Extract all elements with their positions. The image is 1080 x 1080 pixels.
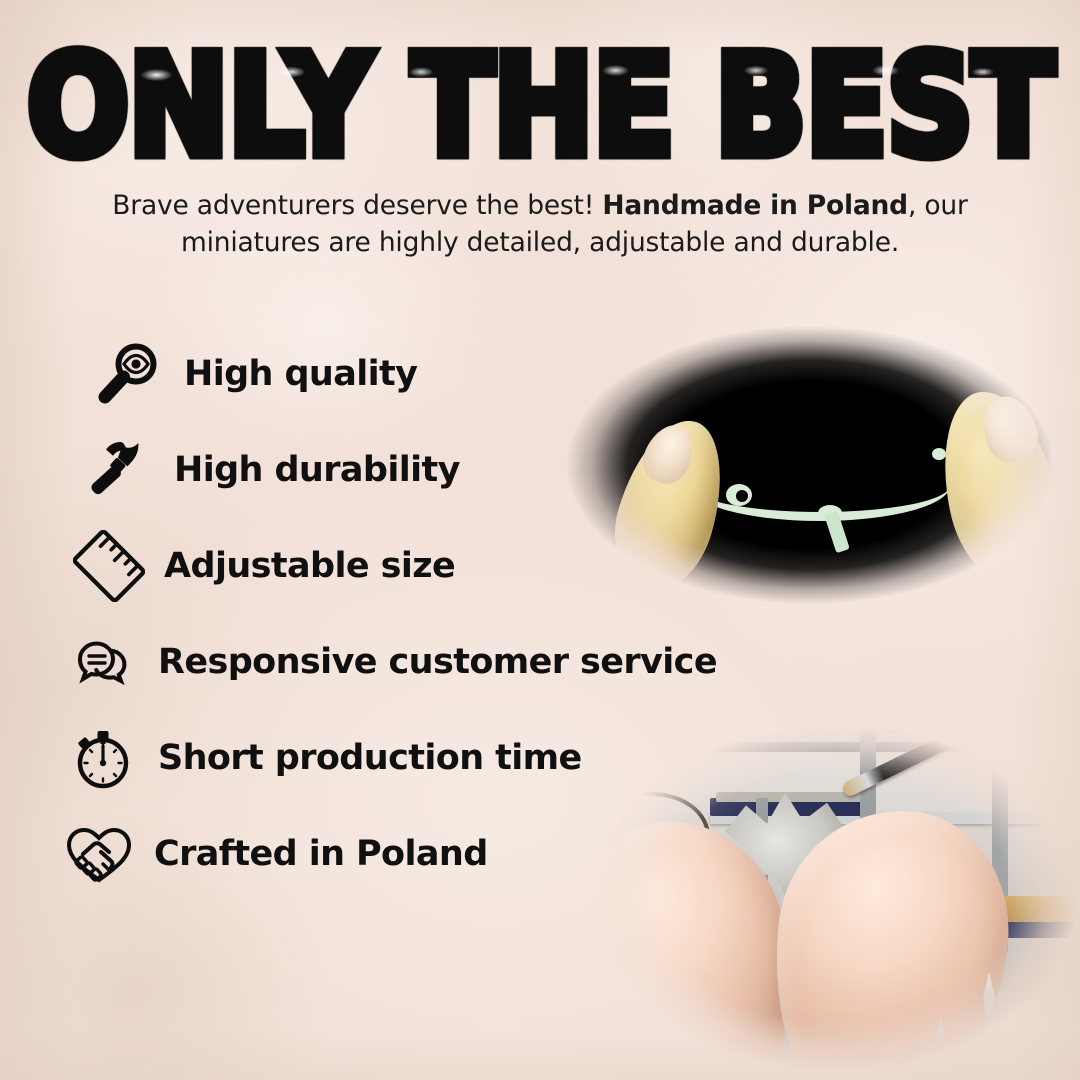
subtitle-emphasis: Handmade in Poland <box>602 190 908 221</box>
feature-item-adjustable-size: Adjustable size <box>72 518 792 614</box>
feature-item-short-production-time: Short production time <box>66 710 792 806</box>
page-title: ONLY THE BEST <box>27 36 1054 175</box>
feature-item-high-quality: High quality <box>92 326 792 422</box>
feature-list: High quality High durability <box>62 326 792 902</box>
miniature-knob-right <box>932 448 946 460</box>
speech-bubbles-icon <box>66 625 140 699</box>
subtitle: Brave adventurers deserve the best! Hand… <box>60 188 1020 261</box>
feature-label: Responsive customer service <box>158 642 717 682</box>
handshake-heart-icon <box>62 817 136 891</box>
feature-label: High durability <box>174 450 460 490</box>
magnifier-eye-icon <box>92 337 166 411</box>
feature-label: Short production time <box>158 738 582 778</box>
headline-block: ONLY THE BEST <box>0 36 1080 154</box>
feature-item-high-durability: High durability <box>82 422 792 518</box>
feature-label: Crafted in Poland <box>154 834 488 874</box>
shelf-tray-top-items <box>898 706 1068 718</box>
feature-label: Adjustable size <box>164 546 455 586</box>
ruler-icon <box>72 529 146 603</box>
feature-label: High quality <box>184 354 417 394</box>
poster-root: ONLY THE BEST Brave adventurers deserve … <box>0 0 1080 1080</box>
subtitle-lead: Brave adventurers deserve the best! <box>112 190 602 221</box>
feature-item-crafted-in-poland: Crafted in Poland <box>62 806 792 902</box>
stopwatch-icon <box>66 721 140 795</box>
hammer-icon <box>82 433 156 507</box>
feature-item-responsive-customer-service: Responsive customer service <box>66 614 792 710</box>
